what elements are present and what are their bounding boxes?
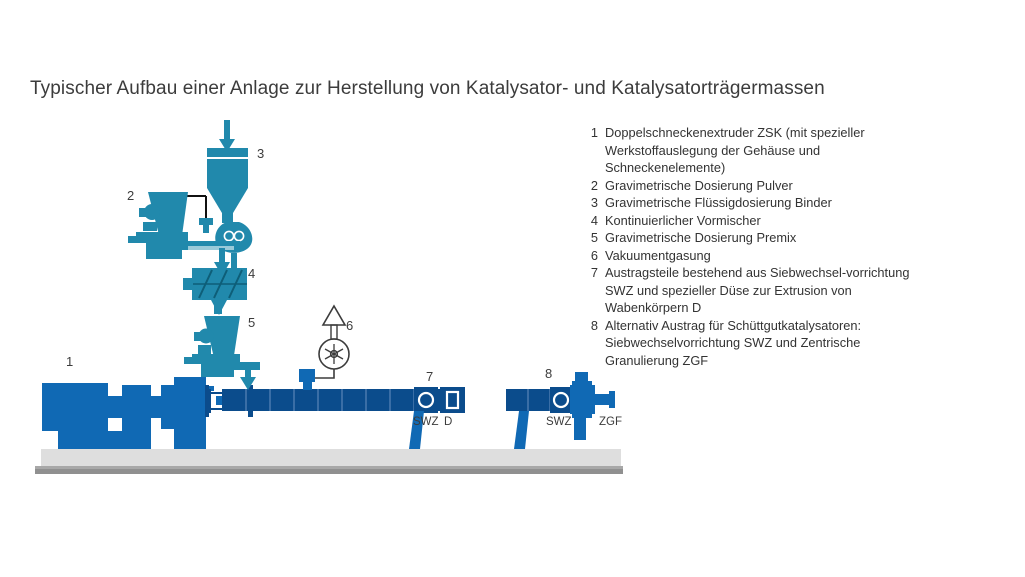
callout-3: 3 (257, 146, 264, 161)
swz-right-label: SWZ (546, 416, 572, 428)
die-d-label: D (444, 416, 452, 428)
process-flow-diagram: SWZ D SWZ ZGF (0, 0, 1025, 577)
swz-left-label-group: SWZ D (413, 416, 452, 428)
swz-left-label: SWZ (413, 416, 439, 428)
callout-5: 5 (248, 315, 255, 330)
callout-4: 4 (248, 266, 255, 281)
alternative-discharge-unit (506, 372, 615, 449)
callout-7: 7 (426, 369, 433, 384)
extruder-drive-unit (42, 377, 214, 449)
zgf-label: ZGF (599, 416, 622, 428)
callout-1: 1 (66, 354, 73, 369)
callout-6: 6 (346, 318, 353, 333)
callout-2: 2 (127, 188, 134, 203)
binder-inlet-arrow (219, 120, 235, 152)
vacuum-degassing-unit (299, 306, 349, 390)
machine-base (35, 449, 623, 474)
callout-8: 8 (545, 366, 552, 381)
